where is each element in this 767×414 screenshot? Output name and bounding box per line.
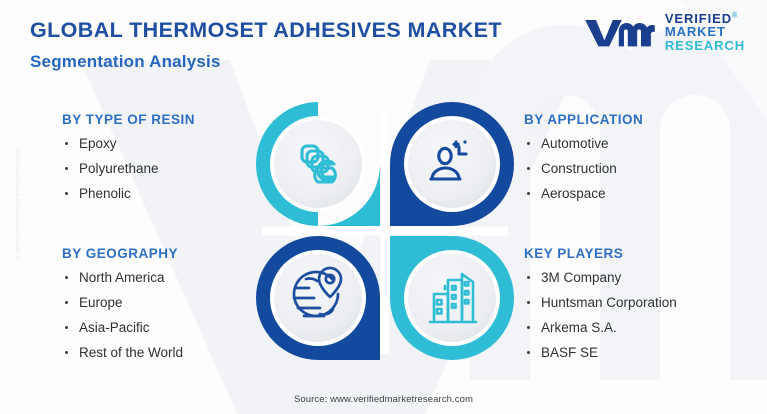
segment-key-players: KEY PLAYERS 3M Company Huntsman Corporat… bbox=[524, 246, 677, 370]
list-item: Epoxy bbox=[62, 136, 195, 151]
quadrant-diagram bbox=[252, 98, 518, 364]
registered-mark: ® bbox=[732, 13, 737, 20]
logo-line-market: MARKET bbox=[665, 25, 745, 38]
list-item: Rest of the World bbox=[62, 345, 183, 360]
page-subtitle: Segmentation Analysis bbox=[30, 52, 221, 72]
segment-heading-key-players: KEY PLAYERS bbox=[524, 246, 677, 261]
segment-list-geography: North America Europe Asia-Pacific Rest o… bbox=[62, 270, 183, 360]
page-title: GLOBAL THERMOSET ADHESIVES MARKET bbox=[30, 18, 502, 43]
quadrant-application[interactable] bbox=[390, 102, 514, 226]
segment-heading-geography: BY GEOGRAPHY bbox=[62, 246, 183, 261]
segment-type-of-resin: BY TYPE OF RESIN Epoxy Polyurethane Phen… bbox=[62, 112, 195, 211]
segment-geography: BY GEOGRAPHY North America Europe Asia-P… bbox=[62, 246, 183, 370]
quadrant-key-players[interactable] bbox=[390, 236, 514, 360]
list-item: Asia-Pacific bbox=[62, 320, 183, 335]
segment-heading-application: BY APPLICATION bbox=[524, 112, 643, 127]
quadrant-geography[interactable] bbox=[256, 236, 380, 360]
logo-line-research: RESEARCH bbox=[665, 39, 745, 52]
list-item: North America bbox=[62, 270, 183, 285]
brand-logo: VERIFIED® MARKET RESEARCH bbox=[584, 12, 745, 52]
vmr-logo-icon bbox=[584, 15, 656, 49]
list-item: BASF SE bbox=[524, 345, 677, 360]
list-item: Polyurethane bbox=[62, 161, 195, 176]
segment-list-key-players: 3M Company Huntsman Corporation Arkema S… bbox=[524, 270, 677, 360]
segment-application: BY APPLICATION Automotive Construction A… bbox=[524, 112, 643, 211]
list-item: Construction bbox=[524, 161, 643, 176]
list-item: Phenolic bbox=[62, 186, 195, 201]
segment-list-application: Automotive Construction Aerospace bbox=[524, 136, 643, 201]
vertical-copyright: © www.verifiedmarketresearch.com bbox=[15, 124, 22, 284]
list-item: Automotive bbox=[524, 136, 643, 151]
list-item: Aerospace bbox=[524, 186, 643, 201]
quadrant-type-of-resin[interactable] bbox=[256, 102, 380, 226]
list-item: 3M Company bbox=[524, 270, 677, 285]
source-caption: Source: www.verifiedmarketresearch.com bbox=[0, 394, 767, 405]
list-item: Huntsman Corporation bbox=[524, 295, 677, 310]
segment-list-type-of-resin: Epoxy Polyurethane Phenolic bbox=[62, 136, 195, 201]
logo-line-verified: VERIFIED® bbox=[665, 12, 745, 25]
list-item: Arkema S.A. bbox=[524, 320, 677, 335]
segment-heading-type-of-resin: BY TYPE OF RESIN bbox=[62, 112, 195, 127]
infographic-canvas: GLOBAL THERMOSET ADHESIVES MARKET Segmen… bbox=[0, 0, 767, 414]
logo-wordmark: VERIFIED® MARKET RESEARCH bbox=[665, 12, 745, 52]
list-item: Europe bbox=[62, 295, 183, 310]
segmentation-wheel bbox=[252, 98, 518, 364]
